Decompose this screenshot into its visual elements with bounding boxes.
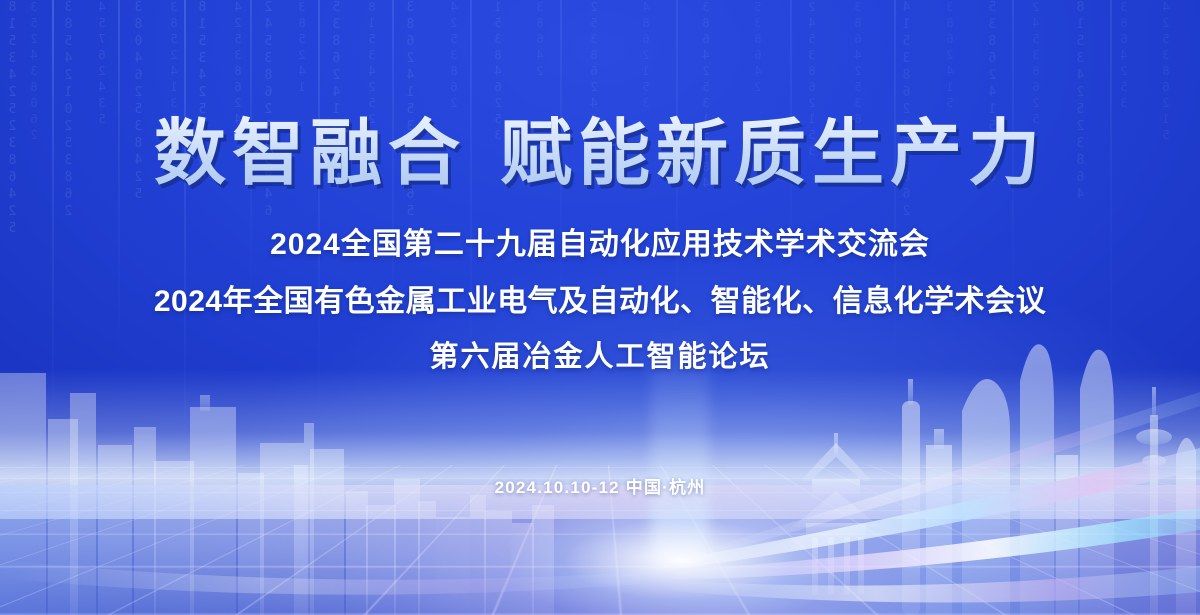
- rain-beam: [790, 0, 792, 300]
- rain-beam: [250, 0, 252, 300]
- digit-rain-column: 2453862153: [806, 0, 818, 370]
- digit-rain-column: 4253862: [448, 0, 460, 275]
- digit-rain-column: 4253862415: [232, 0, 244, 315]
- rain-beam: [894, 0, 896, 380]
- tv-tower-icon: [1136, 387, 1172, 615]
- rain-beam: [184, 0, 186, 470]
- page-title: 数智融合赋能新质生产力: [0, 0, 1200, 191]
- pagoda-icon: [792, 433, 880, 595]
- light-burst-core: [510, 500, 850, 615]
- rain-beam: [1012, 0, 1014, 330]
- digit-rain-column: 3862415: [944, 0, 956, 250]
- digit-rain-column: 380462538425: [132, 0, 145, 470]
- digit-rain-column: 45762435: [96, 0, 108, 340]
- digit-rain-column: 153846253: [492, 0, 504, 360]
- rain-beam: [470, 0, 472, 390]
- digit-rain-column: 425386215: [1160, 0, 1172, 360]
- city-skyline-silhouette: [0, 315, 554, 615]
- title-part-2: 赋能新质生产力: [500, 114, 1046, 194]
- digit-rain-column: 25386241538: [588, 0, 600, 340]
- digit-rain-column: 81534252: [366, 0, 378, 300]
- digit-rain-column: 815342523864: [1074, 0, 1087, 455]
- conference-banner: 8153425238642535243806238542102538624576…: [0, 0, 1200, 615]
- digit-rain-column: 3854210253862: [62, 0, 75, 420]
- digit-rain-column: 3864253: [1118, 0, 1130, 275]
- hangzhou-skyline-silhouette: [784, 315, 1200, 615]
- rain-beam: [560, 0, 562, 300]
- subtitle-line-1: 2024全国第二十九届自动化应用技术学术交流会: [0, 219, 1200, 263]
- digit-rain-layer: 8153425238642535243806238542102538624576…: [0, 0, 1200, 615]
- perspective-grid-floor: [0, 465, 1200, 615]
- digit-rain-column: 4862153: [640, 0, 652, 270]
- rain-beam: [1110, 0, 1112, 400]
- digit-rain-column: 3852413862: [168, 0, 180, 280]
- digit-rain-column: 24538625: [1030, 0, 1042, 300]
- floor-color-wash: [0, 485, 1200, 615]
- digit-rain-column: 4153862453862: [900, 0, 913, 430]
- date-location: 2024.10.10-12 中国·杭州: [0, 375, 1200, 498]
- rain-beam: [392, 0, 394, 340]
- digit-rain-column: 81534252386: [196, 0, 209, 395]
- digit-rain-column: 53862415238: [330, 0, 343, 380]
- digit-rain-column: 2453862153846: [262, 0, 275, 455]
- rain-beam: [318, 0, 320, 420]
- light-burst-ray: [651, 328, 709, 558]
- digit-rain-column: 53862415386: [986, 0, 999, 395]
- digit-rain-column: 38642538: [852, 0, 864, 290]
- digit-rain-column: 386425315284: [700, 0, 712, 400]
- rain-beam: [52, 0, 54, 430]
- digit-rain-column: 538642: [752, 0, 764, 230]
- banner-content: 数智融合赋能新质生产力 2024全国第二十九届自动化应用技术学术交流会 2024…: [0, 0, 1200, 498]
- digit-rain-column: 3862415328465: [404, 0, 417, 430]
- horizon-mist: [0, 369, 1200, 519]
- rain-beam: [118, 0, 120, 360]
- light-ribbons: [0, 0, 1200, 615]
- subtitle-line-3: 第六届冶金人工智能论坛: [0, 333, 1200, 375]
- digit-rain-column: 352438062: [28, 0, 40, 210]
- subtitle-line-2: 2024年全国有色金属工业电气及自动化、智能化、信息化学术会议: [0, 276, 1200, 320]
- digit-rain-column: 81534252386425: [6, 0, 19, 300]
- title-part-1: 数智融合: [154, 114, 466, 194]
- rain-beam: [676, 0, 678, 350]
- digit-rain-column: 38642: [534, 0, 546, 225]
- digit-rain-column: 385241: [296, 0, 308, 250]
